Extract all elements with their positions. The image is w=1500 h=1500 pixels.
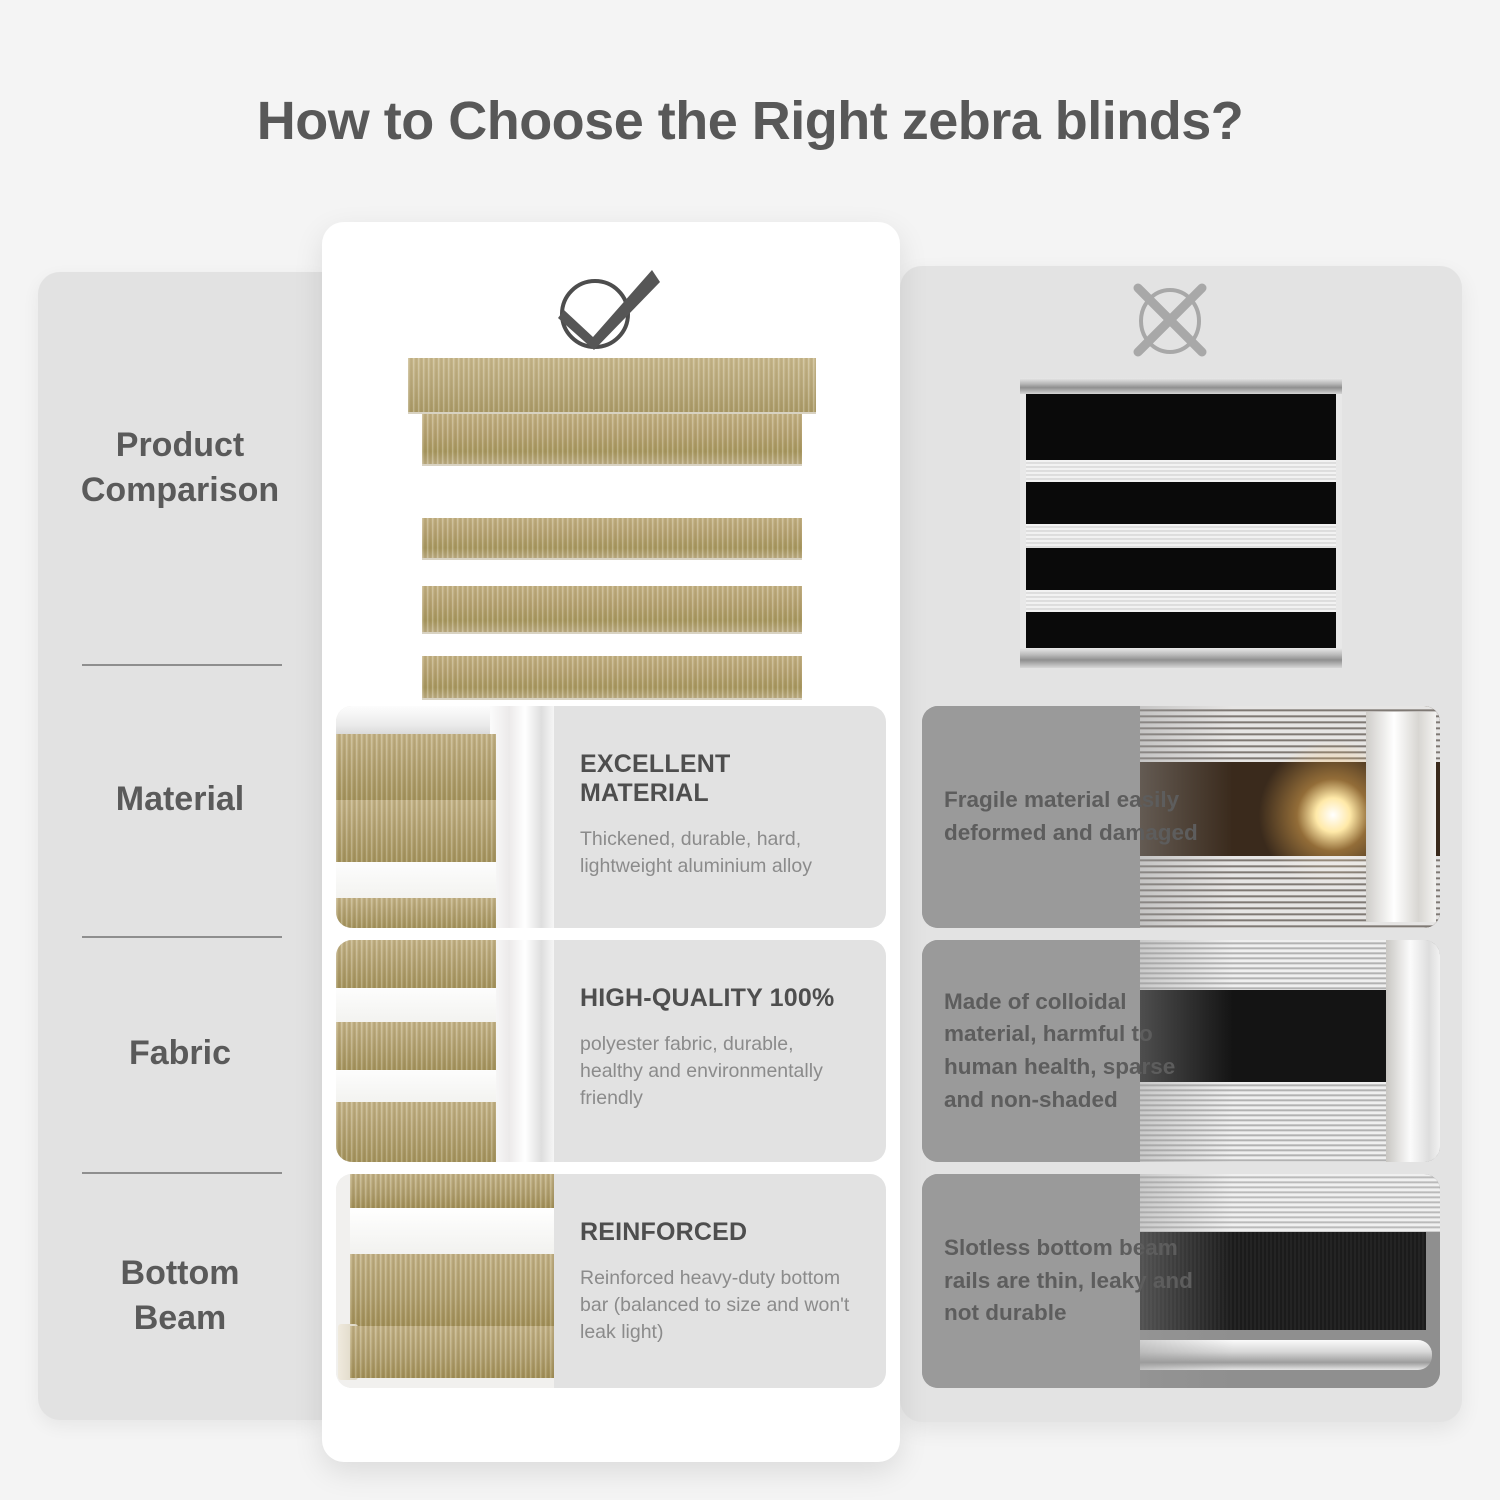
row-label-material: Material	[38, 664, 322, 936]
row-label-fabric: Fabric	[38, 936, 322, 1172]
good-hero-blind-image	[408, 358, 816, 698]
bad-feature-fabric: Made of colloidal material, harmful to h…	[922, 940, 1440, 1162]
row-label-bottom-beam: Bottom Beam	[38, 1172, 322, 1420]
bad-feature-material-text: Fragile material easily deformed and dam…	[944, 706, 1214, 928]
good-feature-fabric: HIGH-QUALITY 100% polyester fabric, dura…	[336, 940, 886, 1162]
row-label-panel: Product Comparison Material Fabric Botto…	[38, 272, 322, 1420]
good-feature-material: EXCELLENT MATERIAL Thickened, durable, h…	[336, 706, 886, 928]
bad-hero-blind-image	[1020, 378, 1342, 668]
row-label-fabric-text: Fabric	[129, 1031, 231, 1076]
row-label-product-comparison-line1: Product	[81, 423, 279, 468]
row-label-bottom-beam-line1: Bottom	[121, 1251, 240, 1296]
good-feature-bottom-beam: REINFORCED Reinforced heavy-duty bottom …	[336, 1174, 886, 1388]
good-feature-material-heading: EXCELLENT MATERIAL	[580, 750, 860, 808]
good-feature-bottom-beam-heading: REINFORCED	[580, 1218, 860, 1247]
good-feature-bottom-beam-body: Reinforced heavy-duty bottom bar (balanc…	[580, 1265, 860, 1346]
good-feature-material-body: Thickened, durable, hard, lightweight al…	[580, 826, 860, 880]
row-label-product-comparison: Product Comparison	[38, 272, 322, 664]
bad-feature-bottom-beam: Slotless bottom beam rails are thin, lea…	[922, 1174, 1440, 1388]
row-label-product-comparison-line2: Comparison	[81, 468, 279, 513]
good-feature-bottom-beam-image	[336, 1174, 554, 1388]
x-circle-icon	[1126, 282, 1214, 363]
bad-feature-material: Fragile material easily deformed and dam…	[922, 706, 1440, 928]
row-label-bottom-beam-line2: Beam	[121, 1296, 240, 1341]
bad-feature-bottom-beam-text: Slotless bottom beam rails are thin, lea…	[944, 1174, 1214, 1388]
good-feature-fabric-image	[336, 940, 554, 1162]
good-feature-fabric-body: polyester fabric, durable, healthy and e…	[580, 1031, 860, 1112]
good-feature-material-image	[336, 706, 554, 928]
page-title: How to Choose the Right zebra blinds?	[0, 90, 1500, 152]
bad-feature-fabric-text: Made of colloidal material, harmful to h…	[944, 940, 1214, 1162]
check-circle-icon	[548, 262, 666, 359]
row-label-material-text: Material	[116, 777, 245, 822]
good-feature-fabric-heading: HIGH-QUALITY 100%	[580, 984, 860, 1013]
infographic-page: How to Choose the Right zebra blinds? Pr…	[0, 0, 1500, 1500]
